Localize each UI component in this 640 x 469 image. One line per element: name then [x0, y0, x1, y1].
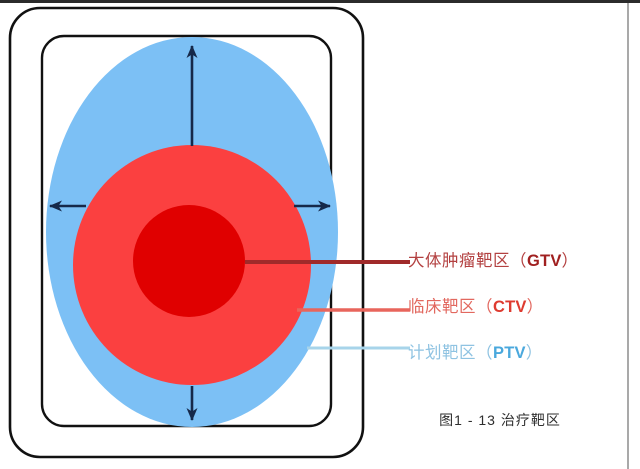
- figure-page: 大体肿瘤靶区（GTV） 临床靶区（CTV） 计划靶区（PTV） 图1 - 13 …: [0, 0, 640, 469]
- legend-paren-open-ptv: （: [476, 344, 493, 362]
- legend-abbr-gtv: GTV: [527, 252, 562, 270]
- legend-paren-close-gtv: ）: [562, 252, 579, 270]
- legend-abbr-ptv: PTV: [493, 344, 526, 362]
- legend-paren-close-ptv: ）: [526, 344, 543, 362]
- legend: 大体肿瘤靶区（GTV） 临床靶区（CTV） 计划靶区（PTV）: [408, 238, 618, 376]
- legend-label-gtv-cn: 大体肿瘤靶区: [408, 252, 510, 270]
- legend-label-ctv: 临床靶区（CTV）: [408, 299, 544, 316]
- gtv-region: [133, 205, 245, 317]
- legend-paren-open-ctv: （: [476, 298, 493, 316]
- legend-item-gtv: 大体肿瘤靶区（GTV）: [408, 238, 618, 284]
- legend-label-gtv: 大体肿瘤靶区（GTV）: [408, 253, 579, 270]
- legend-label-ptv-cn: 计划靶区: [408, 344, 476, 362]
- legend-label-ctv-cn: 临床靶区: [408, 298, 476, 316]
- page-right-gutter: [627, 3, 629, 469]
- legend-label-ptv: 计划靶区（PTV）: [408, 345, 543, 362]
- legend-item-ctv: 临床靶区（CTV）: [408, 284, 618, 330]
- legend-paren-open-gtv: （: [510, 252, 527, 270]
- legend-abbr-ctv: CTV: [493, 298, 527, 316]
- legend-paren-close-ctv: ）: [527, 298, 544, 316]
- radiotherapy-target-volumes-diagram: [0, 0, 410, 469]
- legend-item-ptv: 计划靶区（PTV）: [408, 330, 618, 376]
- figure-caption: 图1 - 13 治疗靶区: [400, 410, 600, 430]
